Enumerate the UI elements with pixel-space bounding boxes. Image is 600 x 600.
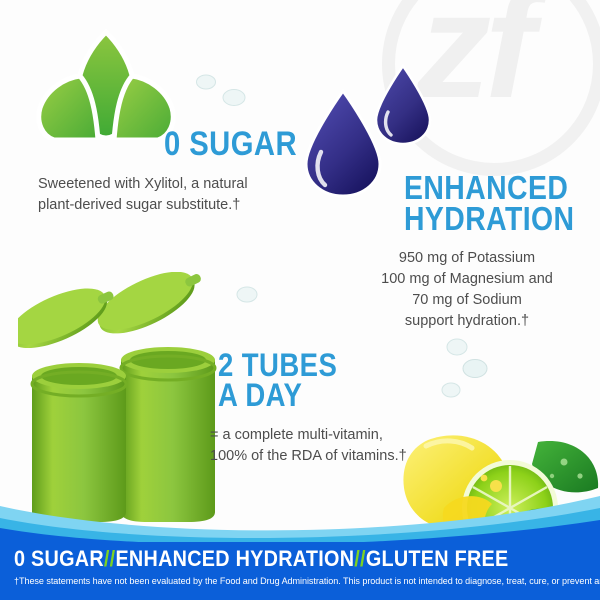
water-droplet-accent — [462, 358, 488, 379]
feature-body-zero-sugar: Sweetened with Xylitol, a natural plant-… — [38, 174, 338, 216]
leaf-icon — [36, 28, 176, 140]
claims-banner: 0 SUGAR//ENHANCED HYDRATION//GLUTEN FREE… — [0, 542, 600, 600]
water-droplet-accent — [441, 382, 461, 398]
claim-separator: // — [104, 546, 116, 571]
wave-divider — [0, 482, 600, 542]
claim-zero-sugar: 0 SUGAR — [14, 546, 104, 571]
banner-claims: 0 SUGAR//ENHANCED HYDRATION//GLUTEN FREE — [14, 546, 508, 572]
water-droplet-accent — [196, 74, 216, 90]
water-droplet-accent — [446, 338, 468, 356]
claim-gluten-free: GLUTEN FREE — [366, 546, 509, 571]
feature-headline-enhanced-hydration: ENHANCED HYDRATION — [404, 172, 574, 235]
claim-enhanced-hydration: ENHANCED HYDRATION — [115, 546, 354, 571]
water-droplet-accent — [222, 88, 246, 107]
feature-body-enhanced-hydration: 950 mg of Potassium 100 mg of Magnesium … — [352, 248, 582, 332]
feature-headline-zero-sugar: 0 SUGAR — [164, 128, 297, 160]
fda-disclaimer: †These statements have not been evaluate… — [14, 576, 600, 586]
product-infographic: zf 0 SUGAR Sweetened with Xylitol, a nat… — [0, 0, 600, 600]
brand-watermark-text: zf — [416, 0, 600, 120]
feature-headline-two-tubes: 2 TUBES A DAY — [218, 350, 337, 411]
claim-separator: // — [354, 546, 366, 571]
water-droplet-accent — [236, 286, 258, 303]
